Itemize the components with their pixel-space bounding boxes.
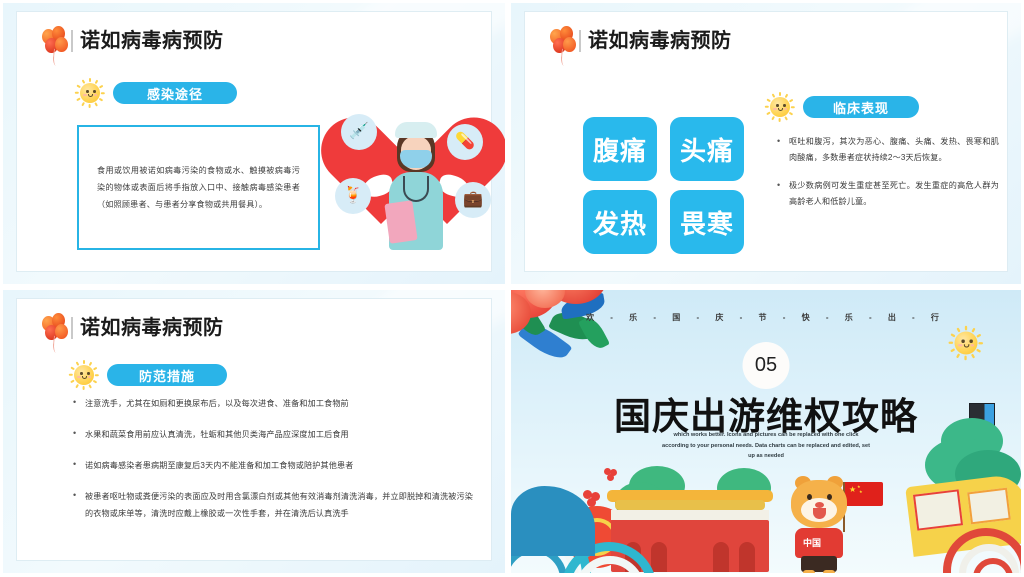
- page-title: 诺如病毒病预防: [80, 28, 224, 54]
- slide-deck: 诺如病毒病预防: [0, 0, 1024, 577]
- preventive-bullet-list: • 注意洗手，尤其在如厕和更换尿布后，以及每次进食、准备和加工食物前 • 水果和…: [73, 395, 473, 536]
- tree-icon: [955, 450, 1021, 498]
- list-item: • 诺如病毒感染者患病期至康复后3天内不能准备和加工食物或陪护其他患者: [73, 457, 473, 474]
- gate-arch-icon: [739, 542, 755, 572]
- title-divider: [579, 30, 581, 52]
- slide-preventive-measures[interactable]: 诺如病毒病预防: [3, 290, 505, 573]
- list-item-text: 呕吐和腹泻，其次为恶心、腹痛、头痛、发热、畏寒和肌肉酸痛，多数患者症状持续2～3…: [789, 134, 999, 165]
- cover-subtitle: which works better. Icons and pictures c…: [662, 430, 870, 462]
- infection-route-textbox: 食用或饮用被诺如病毒污染的食物或水、触摸被病毒污染的物体或表面后将手指放入口中、…: [77, 125, 320, 250]
- mascot-shirt-text: 中国: [803, 538, 821, 548]
- wave-pattern-icon: [959, 544, 1019, 573]
- bullet-dot-icon: •: [73, 457, 85, 474]
- section-label-badge: 感染途径: [113, 82, 237, 104]
- slide-header: 诺如病毒病预防: [41, 26, 224, 66]
- list-item: • 呕吐和腹泻，其次为恶心、腹痛、头痛、发热、畏寒和肌肉酸痛，多数患者症状持续2…: [777, 134, 999, 165]
- list-item-text: 诺如病毒感染者患病期至康复后3天内不能准备和加工食物或陪护其他患者: [85, 457, 353, 474]
- plum-blossom-icon: [604, 468, 617, 481]
- chinese-flag-icon: ★ ★ ★: [845, 482, 883, 506]
- wave-pattern-icon: [511, 546, 567, 573]
- slide-cover-section-05[interactable]: 欢 - 乐 - 国 - 庆 - 节 - 快 - 乐 - 出 - 行 05 国庆出…: [511, 290, 1021, 573]
- section-heading-row: 临床表现: [765, 92, 919, 122]
- infection-route-body: 食用或饮用被诺如病毒污染的食物或水、触摸被病毒污染的物体或表面后将手指放入口中、…: [79, 162, 318, 213]
- list-item: • 被患者呕吐物或粪便污染的表面应及时用含氯漂白剂或其他有效消毒剂清洗消毒，并立…: [73, 488, 473, 522]
- sun-icon: [69, 360, 99, 390]
- symptom-card[interactable]: 发热: [583, 190, 657, 254]
- title-divider: [71, 317, 73, 339]
- tiger-mascot-icon: 中国: [783, 476, 857, 573]
- slide-clinical-manifestation[interactable]: 诺如病毒病预防: [511, 3, 1021, 284]
- plum-blossom-icon: [583, 490, 600, 507]
- nurse-heart-illustration: 💉 💊 🍹 💼: [335, 104, 497, 254]
- nurse-figure: [385, 120, 447, 250]
- list-item: • 注意洗手，尤其在如厕和更换尿布后，以及每次进食、准备和加工食物前: [73, 395, 473, 412]
- wave-pattern-icon: [511, 532, 579, 573]
- symptom-card[interactable]: 头痛: [670, 117, 744, 181]
- bullet-dot-icon: •: [73, 488, 85, 522]
- slide-card: 诺如病毒病预防: [525, 12, 1007, 271]
- peony-flower-icon: [511, 290, 659, 398]
- list-item: • 水果和蔬菜食用前应认真清洗，牡蛎和其他贝类海产品应深度加工后食用: [73, 426, 473, 443]
- wave-pattern-icon: [511, 516, 591, 573]
- sun-icon: [75, 78, 105, 108]
- gate-arch-icon: [713, 542, 729, 572]
- section-number-badge: 05: [743, 342, 790, 389]
- list-item: • 极少数病例可发生重症甚至死亡。发生重症的高危人群为高龄老人和低龄儿童。: [777, 178, 999, 209]
- section-heading-row: 感染途径: [75, 78, 237, 108]
- list-item-text: 注意洗手，尤其在如厕和更换尿布后，以及每次进食、准备和加工食物前: [85, 395, 349, 412]
- bullet-dot-icon: •: [73, 395, 85, 412]
- list-item-text: 极少数病例可发生重症甚至死亡。发生重症的高危人群为高龄老人和低龄儿童。: [789, 178, 999, 209]
- flag-pole-icon: [843, 482, 845, 532]
- page-title: 诺如病毒病预防: [80, 315, 224, 341]
- wave-pattern-icon: [943, 528, 1021, 573]
- slide-card: 诺如病毒病预防: [17, 12, 491, 271]
- slide-infection-route[interactable]: 诺如病毒病预防: [3, 3, 505, 284]
- sun-icon: [949, 326, 984, 361]
- bullet-dot-icon: •: [73, 426, 85, 443]
- pavilion-window-icon: [913, 489, 963, 530]
- page-title: 诺如病毒病预防: [588, 28, 732, 54]
- symptom-card[interactable]: 腹痛: [583, 117, 657, 181]
- list-item-text: 水果和蔬菜食用前应认真清洗，牡蛎和其他贝类海产品应深度加工后食用: [85, 426, 349, 443]
- slide-header: 诺如病毒病预防: [41, 313, 224, 353]
- list-item-text: 被患者呕吐物或粪便污染的表面应及时用含氯漂白剂或其他有效消毒剂清洗消毒，并立即脱…: [85, 488, 473, 522]
- title-divider: [71, 30, 73, 52]
- sun-icon: [765, 92, 795, 122]
- symptom-card[interactable]: 畏寒: [670, 190, 744, 254]
- section-label-badge: 临床表现: [803, 96, 919, 118]
- symptom-grid: 腹痛 头痛 发热 畏寒: [583, 117, 744, 254]
- medical-kit-icon: 💼: [455, 182, 491, 218]
- gate-arch-icon: [651, 542, 667, 572]
- slide-card: 诺如病毒病预防: [17, 299, 491, 560]
- slide-header: 诺如病毒病预防: [549, 26, 732, 66]
- tiananmen-gate-icon: [615, 500, 765, 510]
- balloons-icon: [41, 313, 71, 353]
- balloons-icon: [41, 26, 71, 66]
- beverage-icon: 🍹: [335, 178, 371, 214]
- syringe-icon: 💉: [341, 114, 377, 150]
- bullet-dot-icon: •: [777, 134, 789, 165]
- clinical-bullet-list: • 呕吐和腹泻，其次为恶心、腹痛、头痛、发热、畏寒和肌肉酸痛，多数患者症状持续2…: [777, 134, 999, 222]
- section-heading-row: 防范措施: [69, 360, 227, 390]
- bullet-dot-icon: •: [777, 178, 789, 209]
- wave-pattern-icon: [973, 558, 1013, 573]
- capsule-icon: 💊: [447, 124, 483, 160]
- tiananmen-gate-icon: [611, 510, 769, 520]
- balloons-icon: [549, 26, 579, 66]
- wave-pattern-icon: [511, 486, 595, 556]
- section-label-badge: 防范措施: [107, 364, 227, 386]
- cover-top-banner: 欢 - 乐 - 国 - 庆 - 节 - 快 - 乐 - 出 - 行: [511, 312, 1021, 323]
- gate-arch-icon: [625, 542, 641, 572]
